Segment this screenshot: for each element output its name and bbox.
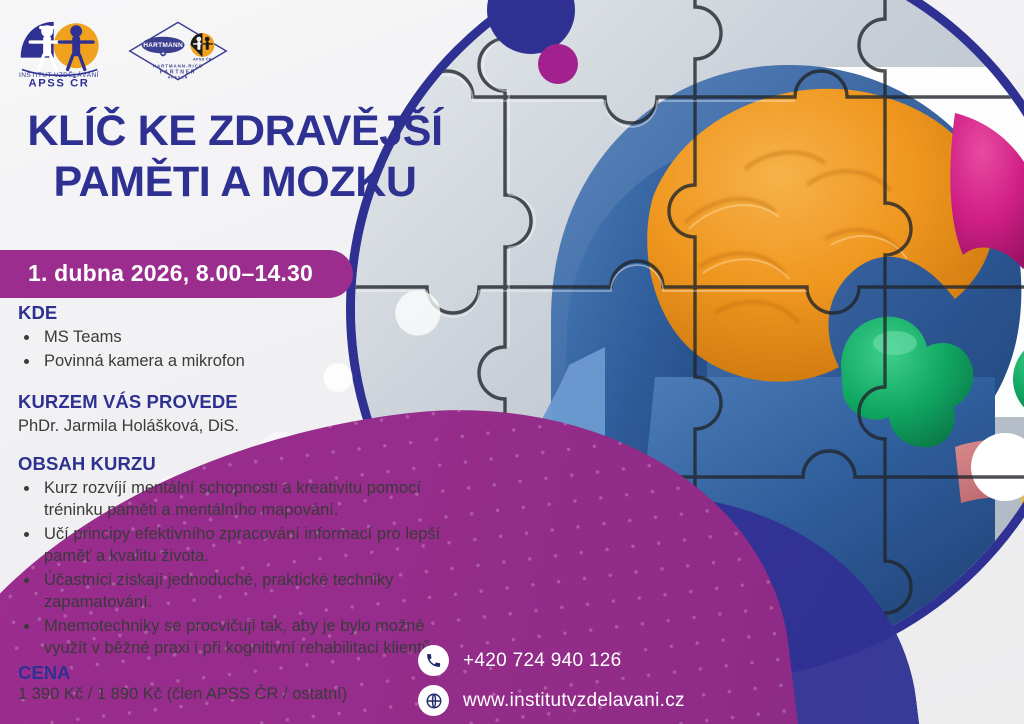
lecturer-name: PhDr. Jarmila Holášková, DiS. [18, 415, 462, 437]
contact-block: +420 724 940 126 www.institutvzdelavani.… [418, 645, 685, 724]
price-heading: CENA [18, 662, 347, 684]
hartmann-line3: APSSCR [168, 76, 189, 80]
list-item: Účastníci získají jednoduché, praktické … [40, 569, 462, 614]
list-item: MS Teams [40, 326, 462, 348]
hartmann-wordmark: HARTMANN [143, 42, 183, 49]
section-list-obsah: Kurz rozvíjí mentální schopnosti a kreat… [18, 477, 462, 660]
poster-canvas: INSTITUT VZDĚLÁVÁNÍ APSS ČR HARTMANN [0, 0, 1024, 724]
date-time-banner: 1. dubna 2026, 8.00–14.30 [0, 250, 353, 298]
hartmann-badge-label: APSS ČR [193, 57, 212, 62]
decor-circle-magenta [538, 44, 578, 84]
list-item: Učí principy efektivního zpracování info… [40, 523, 462, 568]
website-url: www.institutvzdelavani.cz [463, 690, 685, 712]
phone-icon [418, 645, 449, 676]
page-title-line1: KLÍČ KE ZDRAVĚJŠÍ [27, 107, 442, 155]
globe-icon [418, 685, 449, 716]
section-heading-lektor: KURZEM VÁS PROVEDE [18, 391, 462, 413]
list-item: Kurz rozvíjí mentální schopnosti a kreat… [40, 477, 462, 522]
apss-cr-logo: INSTITUT VZDĚLÁVÁNÍ APSS ČR [12, 14, 106, 88]
hartmann-rico-partner-logo: HARTMANN APSS ČR [126, 20, 230, 82]
hartmann-line1: HARTMANN-RICO [153, 64, 203, 69]
contact-web-row[interactable]: www.institutvzdelavani.cz [418, 685, 685, 716]
apss-logo-line2: APSS ČR [29, 77, 90, 88]
hartmann-line2: PARTNER [160, 70, 197, 76]
page-title-line2: PAMĚTI A MOZKU [0, 157, 470, 208]
list-item: Povinná kamera a mikrofon [40, 350, 462, 372]
section-heading-obsah: OBSAH KURZU [18, 453, 462, 475]
price-block: CENA 1 390 Kč / 1 890 Kč (člen APSS ČR /… [18, 662, 347, 704]
sections-block: KDE MS Teams Povinná kamera a mikrofon K… [18, 302, 462, 660]
section-heading-kde: KDE [18, 302, 462, 324]
price-value: 1 390 Kč / 1 890 Kč (člen APSS ČR / osta… [18, 685, 347, 704]
contact-phone-row[interactable]: +420 724 940 126 [418, 645, 685, 676]
section-list-kde: MS Teams Povinná kamera a mikrofon [18, 326, 462, 373]
phone-number: +420 724 940 126 [463, 650, 622, 672]
logo-bar: INSTITUT VZDĚLÁVÁNÍ APSS ČR HARTMANN [12, 14, 230, 88]
list-item: Mnemotechniky se procvičují tak, aby je … [40, 615, 462, 660]
